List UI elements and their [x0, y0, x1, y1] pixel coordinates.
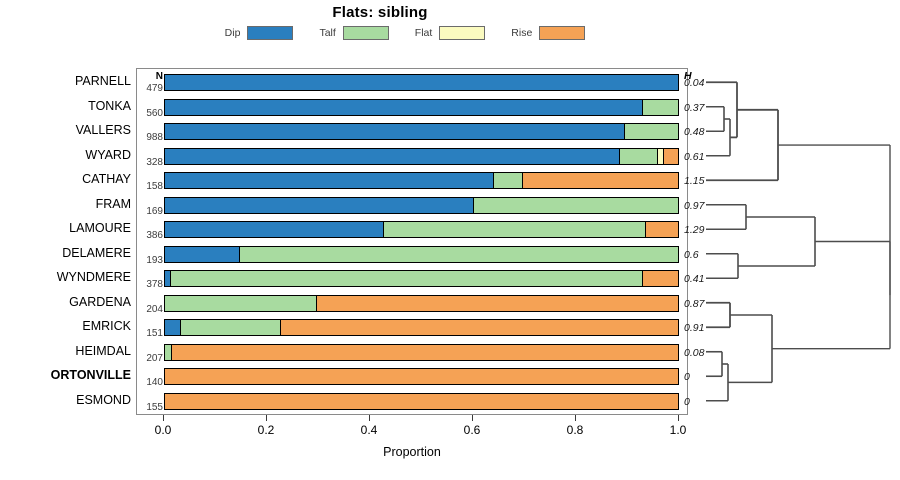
y-axis-label-gardena[interactable]: GARDENA: [0, 295, 131, 309]
table-row[interactable]: 2040.87: [137, 292, 687, 317]
row-n-value: 151: [139, 328, 163, 339]
table-row[interactable]: 1400: [137, 365, 687, 390]
table-row[interactable]: 2070.08: [137, 341, 687, 366]
stacked-bar[interactable]: [164, 74, 679, 91]
y-axis-label-fram[interactable]: FRAM: [0, 197, 131, 211]
x-tick-label: 0.0: [143, 423, 183, 437]
bar-segment-talf: [165, 296, 316, 311]
x-axis-tick-labels: 0.00.20.40.60.81.0: [136, 423, 688, 439]
y-axis-label-vallers[interactable]: VALLERS: [0, 123, 131, 137]
table-row[interactable]: 3780.41: [137, 267, 687, 292]
legend-swatch-dip: [247, 26, 293, 40]
bar-segment-dip: [165, 75, 678, 90]
bar-segment-rise: [316, 296, 678, 311]
legend-label-dip: Dip: [225, 27, 241, 39]
bar-segment-talf: [383, 222, 645, 237]
bar-segment-talf: [493, 173, 521, 188]
chart-title: Flats: sibling: [0, 4, 760, 21]
y-axis-label-wyndmere[interactable]: WYNDMERE: [0, 270, 131, 284]
y-axis-labels: PARNELLTONKAVALLERSWYARDCATHAYFRAMLAMOUR…: [0, 68, 131, 415]
y-axis-label-lamoure[interactable]: LAMOURE: [0, 221, 131, 235]
bar-segment-talf: [642, 100, 678, 115]
table-row[interactable]: 5600.37: [137, 96, 687, 121]
y-axis-label-heimdal[interactable]: HEIMDAL: [0, 344, 131, 358]
bar-segment-dip: [165, 100, 642, 115]
row-n-value: 479: [139, 83, 163, 94]
bar-segment-dip: [165, 149, 619, 164]
table-row[interactable]: 1581.15: [137, 169, 687, 194]
x-axis-title: Proportion: [136, 445, 688, 459]
x-tick: [369, 415, 370, 421]
bar-segment-dip: [165, 222, 383, 237]
bar-segment-talf: [619, 149, 657, 164]
table-row[interactable]: 3861.29: [137, 218, 687, 243]
y-axis-label-emrick[interactable]: EMRICK: [0, 319, 131, 333]
table-row[interactable]: 1510.91: [137, 316, 687, 341]
bar-segment-talf: [624, 124, 678, 139]
stacked-bar[interactable]: [164, 319, 679, 336]
x-tick: [266, 415, 267, 421]
legend: Dip Talf Flat Rise: [0, 26, 810, 40]
stacked-bar[interactable]: [164, 270, 679, 287]
stacked-bar[interactable]: [164, 123, 679, 140]
bar-segment-rise: [645, 222, 678, 237]
bar-segment-talf: [170, 271, 642, 286]
legend-entry-flat: Flat: [415, 26, 486, 40]
row-n-value: 155: [139, 402, 163, 413]
dendrogram: [700, 68, 896, 415]
stacked-bar[interactable]: [164, 99, 679, 116]
table-row[interactable]: 1690.97: [137, 194, 687, 219]
row-n-value: 140: [139, 377, 163, 388]
legend-entry-dip: Dip: [225, 26, 294, 40]
stacked-bar[interactable]: [164, 197, 679, 214]
table-row[interactable]: 1550: [137, 390, 687, 415]
bar-segment-rise: [171, 345, 678, 360]
row-n-value: 158: [139, 181, 163, 192]
x-tick-label: 0.2: [246, 423, 286, 437]
y-axis-label-tonka[interactable]: TONKA: [0, 99, 131, 113]
row-n-value: 386: [139, 230, 163, 241]
table-row[interactable]: 1930.6: [137, 243, 687, 268]
bar-segment-dip: [165, 320, 180, 335]
bar-segment-rise: [522, 173, 678, 188]
bar-segment-talf: [473, 198, 678, 213]
row-n-value: 378: [139, 279, 163, 290]
bar-rows: 4790.045600.379880.483280.611581.151690.…: [137, 69, 687, 414]
y-axis-label-delamere[interactable]: DELAMERE: [0, 246, 131, 260]
legend-label-rise: Rise: [511, 27, 532, 39]
bar-segment-dip: [165, 124, 624, 139]
row-n-value: 169: [139, 206, 163, 217]
y-axis-label-parnell[interactable]: PARNELL: [0, 74, 131, 88]
x-tick: [163, 415, 164, 421]
legend-entry-rise: Rise: [511, 26, 585, 40]
y-axis-label-esmond[interactable]: ESMOND: [0, 393, 131, 407]
bar-segment-dip: [165, 247, 239, 262]
y-axis-label-cathay[interactable]: CATHAY: [0, 172, 131, 186]
table-row[interactable]: 9880.48: [137, 120, 687, 145]
x-tick-label: 1.0: [658, 423, 698, 437]
x-tick-label: 0.4: [349, 423, 389, 437]
stacked-bar[interactable]: [164, 393, 679, 410]
stacked-bar[interactable]: [164, 172, 679, 189]
table-row[interactable]: 3280.61: [137, 145, 687, 170]
bar-segment-dip: [165, 198, 473, 213]
bar-segment-talf: [239, 247, 678, 262]
table-row[interactable]: 4790.04: [137, 71, 687, 96]
x-axis-ticks: [136, 415, 688, 423]
row-n-value: 193: [139, 255, 163, 266]
legend-swatch-talf: [343, 26, 389, 40]
legend-label-flat: Flat: [415, 27, 433, 39]
stacked-bar[interactable]: [164, 221, 679, 238]
stacked-bar[interactable]: [164, 295, 679, 312]
bar-segment-rise: [165, 369, 678, 384]
bar-segment-rise: [642, 271, 678, 286]
legend-entry-talf: Talf: [319, 26, 388, 40]
row-n-value: 988: [139, 132, 163, 143]
x-tick: [575, 415, 576, 421]
x-tick-label: 0.6: [452, 423, 492, 437]
row-n-value: 204: [139, 304, 163, 315]
plot-panel: N H 4790.045600.379880.483280.611581.151…: [136, 68, 688, 415]
row-n-value: 207: [139, 353, 163, 364]
stacked-bar[interactable]: [164, 148, 679, 165]
bar-segment-talf: [180, 320, 280, 335]
row-n-value: 328: [139, 157, 163, 168]
legend-label-talf: Talf: [319, 27, 335, 39]
y-axis-label-ortonville[interactable]: ORTONVILLE: [0, 368, 131, 382]
bar-segment-rise: [280, 320, 678, 335]
stacked-bar[interactable]: [164, 368, 679, 385]
x-tick: [472, 415, 473, 421]
legend-swatch-rise: [539, 26, 585, 40]
row-n-value: 560: [139, 108, 163, 119]
y-axis-label-wyard[interactable]: WYARD: [0, 148, 131, 162]
bar-segment-rise: [663, 149, 678, 164]
x-tick: [678, 415, 679, 421]
bar-segment-rise: [165, 394, 678, 409]
bar-segment-dip: [165, 173, 493, 188]
legend-swatch-flat: [439, 26, 485, 40]
stacked-bar[interactable]: [164, 344, 679, 361]
x-tick-label: 0.8: [555, 423, 595, 437]
stacked-bar[interactable]: [164, 246, 679, 263]
